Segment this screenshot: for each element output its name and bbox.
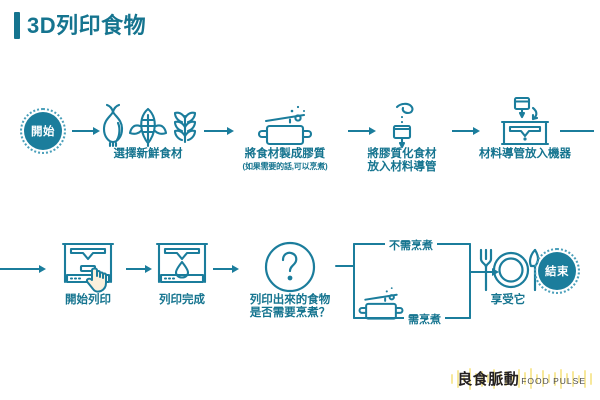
title-accent-bar [14,12,20,39]
step-caption: 選擇新鮮食材 [114,148,183,161]
end-terminator: 結束 [534,248,580,294]
decision-caption: 列印出來的食物 [250,294,331,306]
step-print-complete: 列印完成 [146,238,218,307]
step-choose-ingredients: 選擇新鮮食材 [95,100,201,161]
cooking-pot-icon [254,100,316,148]
logo-english-text: FOOD PULSE [521,376,586,386]
printer-load-cartridge-icon [488,96,562,148]
branch-label-no-cook: 不需烹煮 [385,237,437,253]
step-caption: 開始列印 [65,294,111,307]
step-caption: 列印完成 [159,294,205,307]
step-caption: 將膠質化食材 [368,148,437,160]
arrow-row2-enter [0,264,46,274]
step-caption: 材料導管放入機器 [479,148,571,161]
question-mark-icon [262,238,318,294]
printer-start-icon [55,238,121,294]
footer-logo: 良食脈動 FOOD PULSE [451,365,592,392]
step-subcaption: (如果需要的話,可以烹煮) [243,162,328,171]
start-terminator: 開始 [20,108,66,154]
step-make-gel: 將食材製成膠質 (如果需要的話,可以烹煮) [224,100,346,171]
step-fill-cartridge: 將膠質化食材 放入材料導管 [348,100,456,174]
printer-done-icon [149,238,215,294]
end-label: 結束 [538,252,576,290]
decision-caption-line2: 是否需要烹煮？ [250,307,331,319]
vegetables-icon [96,100,200,148]
branch-label-cook: 需烹煮 [404,311,445,327]
logo-chinese-text: 良食脈動 [457,368,519,389]
step-caption: 享受它 [491,294,526,307]
decision-needs-cooking: 列印出來的食物 是否需要烹煮？ [234,238,346,320]
page-title: 3D列印食物 [14,12,146,39]
step-caption-line2: 放入材料導管 [368,161,437,173]
step-start-printing: 開始列印 [45,238,131,307]
plate-cutlery-icon [473,244,543,294]
title-text: 3D列印食物 [27,15,146,37]
step-caption: 將食材製成膠質 [245,148,326,160]
infographic-canvas: 3D列印食物 開始 [0,0,600,400]
start-label: 開始 [24,112,62,150]
arrow-row1-exit [560,126,594,136]
syringe-cartridge-icon [375,100,429,148]
cooking-pot-icon [355,284,407,322]
